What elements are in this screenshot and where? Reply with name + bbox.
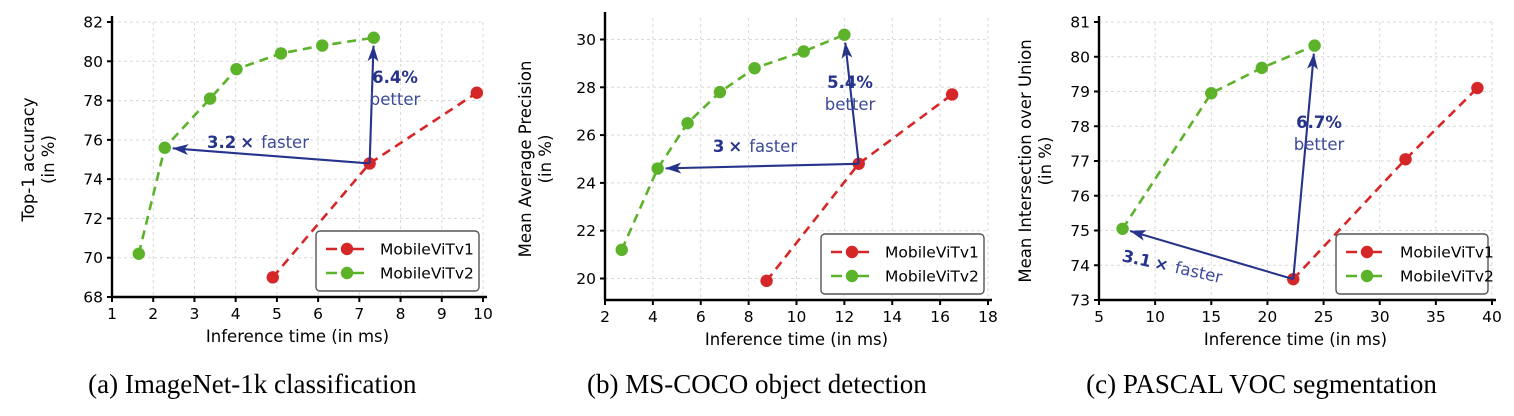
data-point-MobileViTv1[interactable] [1400,153,1412,165]
x-tick-label: 40 [1482,308,1502,326]
y-tick-label: 81 [1070,14,1090,32]
y-tick-label: 68 [83,289,103,307]
y-tick-label: 80 [83,53,103,71]
panel-b: 24681012141618202224262830Inference time… [505,0,1010,416]
x-tick-label: 2 [600,308,610,326]
data-point-MobileViTv2[interactable] [316,39,328,51]
data-point-MobileViTv2[interactable] [651,162,663,174]
y-tick-label: 75 [1070,222,1090,240]
legend-swatch-marker [845,246,857,258]
legend-swatch-marker [1361,270,1373,282]
annotation-value: 5.4% [827,73,873,92]
data-point-MobileViTv2[interactable] [615,244,627,256]
data-point-MobileViTv2[interactable] [713,86,725,98]
x-tick-label: 20 [1258,308,1278,326]
legend-swatch-marker [341,267,353,279]
plot-area-c: 510152025303540737475767778798081Inferen… [1009,0,1514,352]
legend-label[interactable]: MobileViTv1 [885,243,979,261]
y-tick-label: 20 [576,270,596,288]
x-tick-label: 16 [930,308,950,326]
x-tick-label: 14 [882,308,902,326]
y-axis-label: Mean Average Precision(in %) [516,61,555,258]
x-tick-label: 2 [148,305,158,323]
annotation-arrow-speedup [665,164,858,169]
x-tick-label: 35 [1426,308,1446,326]
data-point-MobileViTv2[interactable] [838,29,850,41]
y-tick-label: 30 [576,31,596,49]
data-point-MobileViTv2[interactable] [748,62,760,74]
annotation-improvement: 6.4%better [370,68,421,109]
data-point-MobileViTv1[interactable] [945,88,957,100]
x-axis-label: Inference time (in ms) [206,327,389,346]
annotation-value: 3 [712,137,723,156]
x-tick-label: 4 [648,308,658,326]
annotation-speedup: 3.2×faster [207,133,309,152]
data-point-MobileViTv2[interactable] [1205,87,1217,99]
panel-c-caption: (c) PASCAL VOC segmentation [1009,352,1514,416]
y-tick-label: 72 [83,210,103,228]
annotation-caption: faster [1173,258,1224,287]
figure-root: 123456789106870727476788082Inference tim… [0,0,1514,416]
annotation-value: 6.7% [1296,113,1342,132]
data-point-MobileViTv2[interactable] [159,142,171,154]
x-tick-label: 10 [786,308,806,326]
data-point-MobileViTv1[interactable] [267,271,279,283]
legend-label[interactable]: MobileViTv2 [1400,267,1494,285]
chart-svg-c: 510152025303540737475767778798081Inferen… [1009,0,1514,352]
x-tick-label: 8 [396,305,406,323]
data-point-MobileViTv1[interactable] [760,275,772,287]
x-tick-label: 30 [1370,308,1390,326]
legend-label[interactable]: MobileViTv2 [885,267,979,285]
x-tick-label: 5 [1094,308,1104,326]
data-point-MobileViTv1[interactable] [1471,82,1483,94]
x-tick-label: 8 [743,308,753,326]
x-tick-label: 9 [437,305,447,323]
y-axis-label: Mean Intersection over Union(in %) [1016,39,1055,282]
plot-area-a: 123456789106870727476788082Inference tim… [0,0,505,352]
annotation-value: 3.1 [1121,246,1154,271]
y-tick-label: 76 [1070,187,1090,205]
y-tick-label: 22 [576,222,596,240]
annotation-speedup: 3×faster [712,137,796,156]
y-axis-label: Top-1 accuracy(in %) [19,97,58,222]
legend-label[interactable]: MobileViTv1 [1400,243,1494,261]
x-tick-label: 10 [1145,308,1165,326]
series-line-MobileViTv2 [1123,46,1315,229]
data-point-MobileViTv2[interactable] [1309,39,1321,51]
y-tick-label: 80 [1070,48,1090,66]
data-point-MobileViTv2[interactable] [204,92,216,104]
y-tick-label: 73 [1070,292,1090,310]
x-tick-label: 10 [473,305,493,323]
y-tick-label: 82 [83,14,103,32]
plot-area-b: 24681012141618202224262830Inference time… [505,0,1010,352]
legend-swatch-marker [1361,246,1373,258]
annotation-text-speedup: 3×faster [712,137,796,156]
x-tick-label: 3 [190,305,200,323]
x-tick-label: 6 [313,305,323,323]
annotation-value: 6.4% [372,68,418,87]
x-tick-label: 12 [834,308,854,326]
x-tick-label: 15 [1202,308,1222,326]
y-axis-label-line1: Mean Intersection over Union [1016,39,1035,282]
y-tick-label: 78 [83,92,103,110]
data-point-MobileViTv2[interactable] [797,45,809,57]
legend-swatch-marker [845,270,857,282]
panel-b-caption: (b) MS-COCO object detection [505,352,1010,416]
x-tick-label: 1 [107,305,117,323]
data-point-MobileViTv2[interactable] [275,47,287,59]
y-tick-label: 79 [1070,83,1090,101]
y-axis-label-line2: (in %) [1036,137,1055,186]
annotation-times-symbol: × [728,137,742,156]
data-point-MobileViTv2[interactable] [368,32,380,44]
series-line-MobileViTv2 [139,38,374,254]
x-axis-label: Inference time (in ms) [1204,330,1387,349]
annotation-times-symbol: × [240,133,254,152]
annotation-speedup: 3.1×faster [1121,246,1225,287]
annotation-value: 3.2 [207,133,236,152]
y-tick-label: 74 [83,171,103,189]
x-tick-label: 25 [1314,308,1334,326]
panel-c: 510152025303540737475767778798081Inferen… [1009,0,1514,416]
annotation-caption: better [1294,135,1345,154]
data-point-MobileViTv2[interactable] [230,63,242,75]
x-tick-label: 6 [695,308,705,326]
y-tick-label: 74 [1070,257,1090,275]
annotation-caption: faster [749,137,797,156]
legend-label[interactable]: MobileViTv1 [380,240,474,258]
y-tick-label: 77 [1070,153,1090,171]
x-tick-label: 7 [354,305,364,323]
annotation-caption: better [370,90,421,109]
annotation-caption: better [824,95,875,114]
y-tick-label: 26 [576,127,596,145]
y-tick-label: 24 [576,174,596,192]
panel-a: 123456789106870727476788082Inference tim… [0,0,505,416]
annotation-text-speedup: 3.2×faster [207,133,309,152]
x-tick-label: 18 [978,308,998,326]
y-axis-label-line2: (in %) [536,135,555,184]
legend-label[interactable]: MobileViTv2 [380,264,474,282]
annotation-text-speedup: 3.1×faster [1121,246,1225,287]
x-axis-label: Inference time (in ms) [705,330,888,349]
y-tick-label: 70 [83,249,103,267]
data-point-MobileViTv2[interactable] [133,248,145,260]
legend-swatch-marker [341,243,353,255]
x-tick-label: 5 [272,305,282,323]
y-axis-label-line2: (in %) [39,135,58,184]
panel-a-caption: (a) ImageNet-1k classification [0,352,505,416]
annotation-improvement: 6.7%better [1294,113,1345,154]
annotation-caption: faster [261,133,309,152]
y-axis-label-line1: Mean Average Precision [516,61,535,258]
annotation-arrow-improvement [1293,54,1314,280]
data-point-MobileViTv1[interactable] [471,87,483,99]
data-point-MobileViTv2[interactable] [681,117,693,129]
chart-svg-b: 24681012141618202224262830Inference time… [505,0,1010,352]
y-tick-label: 78 [1070,118,1090,136]
x-tick-label: 4 [231,305,241,323]
y-axis-label-line1: Top-1 accuracy [19,97,38,222]
y-tick-label: 76 [83,131,103,149]
chart-svg-a: 123456789106870727476788082Inference tim… [0,0,505,352]
y-tick-label: 28 [576,79,596,97]
data-point-MobileViTv2[interactable] [1117,223,1129,235]
data-point-MobileViTv2[interactable] [1256,62,1268,74]
annotation-times-symbol: × [1153,254,1171,276]
